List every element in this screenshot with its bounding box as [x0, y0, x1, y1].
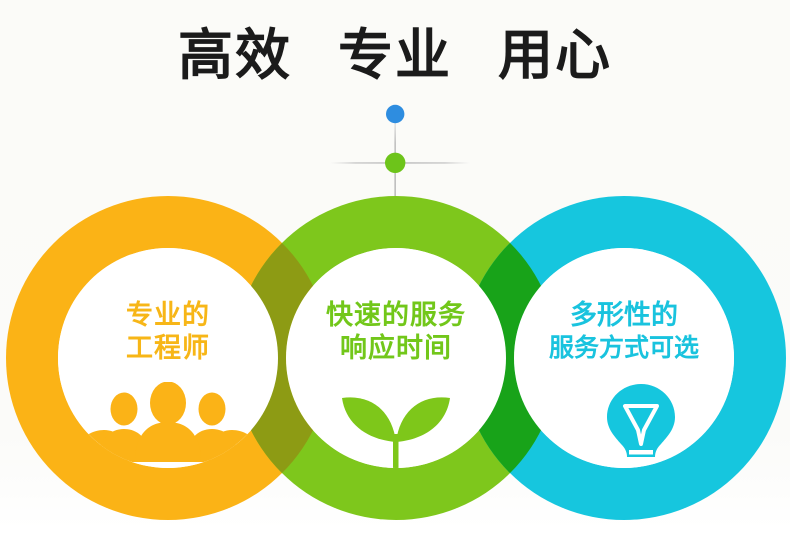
lightbulb-icon [596, 382, 686, 470]
circle-service-modes-label: 多形性的 服务方式可选 [522, 300, 726, 363]
lightbulb-base-line-2 [629, 459, 653, 464]
people-group-icon [88, 382, 248, 462]
circle-service-modes-line-1: 多形性的 [522, 300, 726, 333]
lightbulb-base-line-1 [629, 450, 653, 455]
sprout-icon [330, 382, 462, 474]
infographic-canvas: 高效专业用心 [0, 0, 790, 557]
circle-response-time-label: 快速的服务 响应时间 [296, 300, 496, 366]
circle-engineers-line-2: 工程师 [68, 333, 268, 366]
circle-engineers-label: 专业的 工程师 [68, 300, 268, 366]
circle-response-time-line-2: 响应时间 [296, 333, 496, 366]
circle-service-modes-line-2: 服务方式可选 [522, 333, 726, 364]
circle-response-time-line-1: 快速的服务 [296, 300, 496, 333]
circle-engineers-line-1: 专业的 [68, 300, 268, 333]
lightbulb-glass [607, 384, 675, 457]
